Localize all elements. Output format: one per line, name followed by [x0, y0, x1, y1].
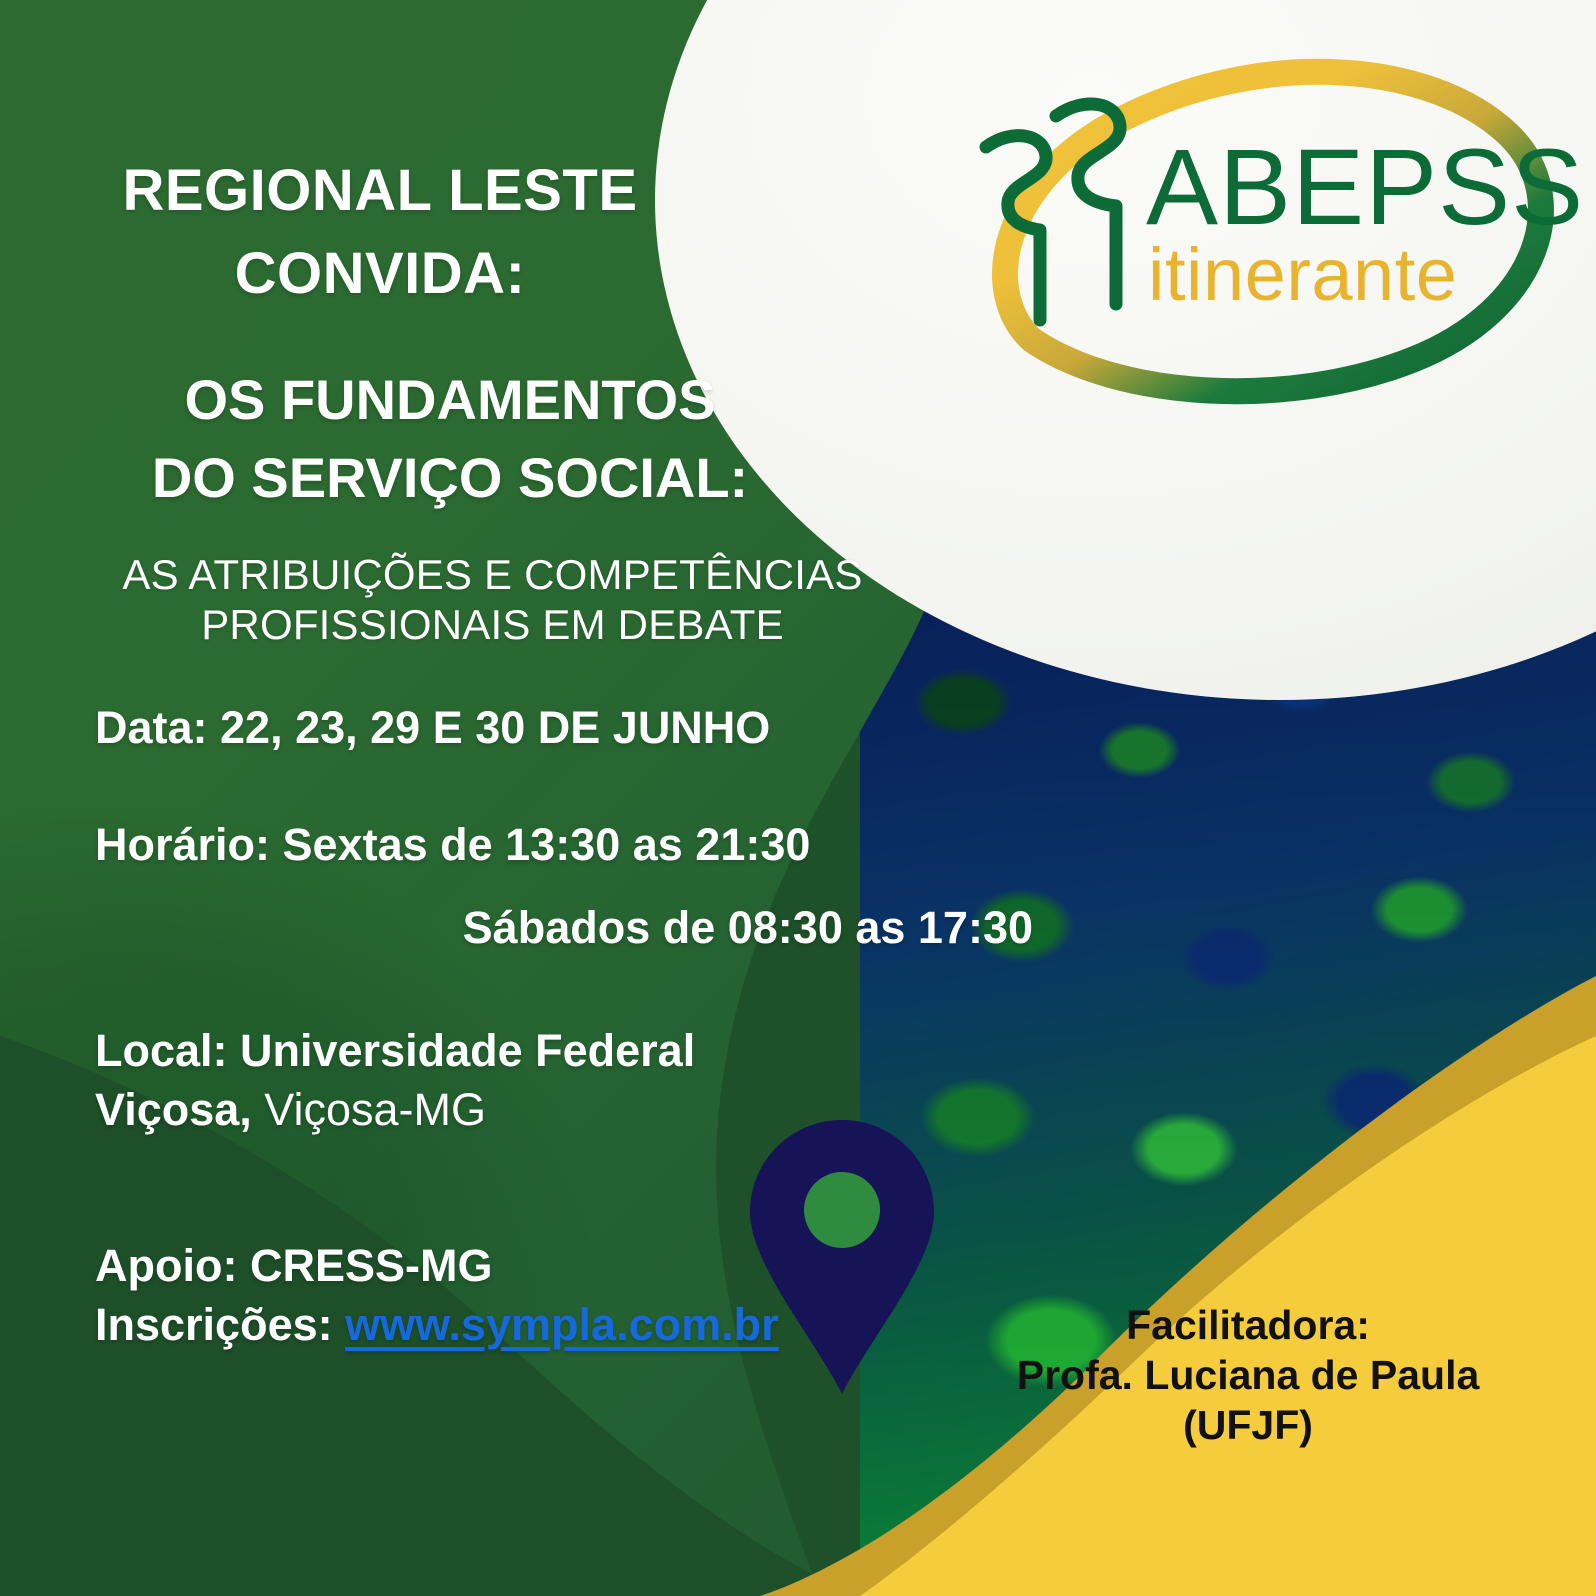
- event-title-line-2: DO SERVIÇO SOCIAL:: [0, 448, 900, 508]
- signup-url-link[interactable]: www.sympla.com.br: [345, 1299, 778, 1350]
- logo-tagline: itinerante: [1148, 233, 1457, 316]
- venue-block: Local: Universidade Federal Viçosa, Viço…: [95, 1022, 975, 1139]
- logo-wordmark: ABEPSS: [1146, 126, 1580, 247]
- signup-line: Inscrições: www.sympla.com.br: [95, 1295, 995, 1354]
- venue-city: Viçosa-MG: [264, 1084, 486, 1135]
- facilitator-name: Profa. Luciana de Paula: [900, 1350, 1596, 1400]
- facilitator-label: Facilitadora:: [900, 1300, 1596, 1350]
- abepss-logo: ABEPSS itinerante: [960, 42, 1580, 412]
- event-subtitle-line-2: PROFISSIONAIS EM DEBATE: [0, 600, 985, 650]
- venue-name-part-2: Viçosa,: [95, 1084, 252, 1135]
- facilitator-block: Facilitadora: Profa. Luciana de Paula (U…: [900, 1300, 1596, 1450]
- event-date: Data: 22, 23, 29 E 30 DE JUNHO: [95, 705, 1055, 750]
- signup-label: Inscrições:: [95, 1299, 333, 1350]
- venue-name-part-1: Local: Universidade Federal: [95, 1025, 695, 1076]
- headline-line-2: CONVIDA:: [0, 243, 760, 304]
- schedule-block: Data: 22, 23, 29 E 30 DE JUNHO Horário: …: [95, 705, 1055, 950]
- event-hours-weekday: Horário: Sextas de 13:30 as 21:30: [95, 822, 1055, 867]
- support-line: Apoio: CRESS-MG: [95, 1236, 995, 1295]
- event-subtitle-line-1: AS ATRIBUIÇÕES E COMPETÊNCIAS: [0, 550, 985, 600]
- headline-line-1: REGIONAL LESTE: [0, 160, 760, 221]
- event-hours-saturday: Sábados de 08:30 as 17:30: [95, 905, 1055, 950]
- venue-line-1: Local: Universidade Federal: [95, 1022, 975, 1081]
- facilitator-affiliation: (UFJF): [900, 1400, 1596, 1450]
- event-subtitle: AS ATRIBUIÇÕES E COMPETÊNCIAS PROFISSION…: [0, 550, 985, 649]
- page-title: REGIONAL LESTE CONVIDA:: [0, 160, 760, 305]
- event-flyer: ABEPSS itinerante REGIONAL LESTE CONVIDA…: [0, 0, 1596, 1596]
- event-title: OS FUNDAMENTOS DO SERVIÇO SOCIAL:: [0, 370, 900, 509]
- event-title-line-1: OS FUNDAMENTOS: [0, 370, 900, 430]
- venue-line-2: Viçosa, Viçosa-MG: [95, 1081, 975, 1140]
- signup-block: Apoio: CRESS-MG Inscrições: www.sympla.c…: [95, 1236, 995, 1355]
